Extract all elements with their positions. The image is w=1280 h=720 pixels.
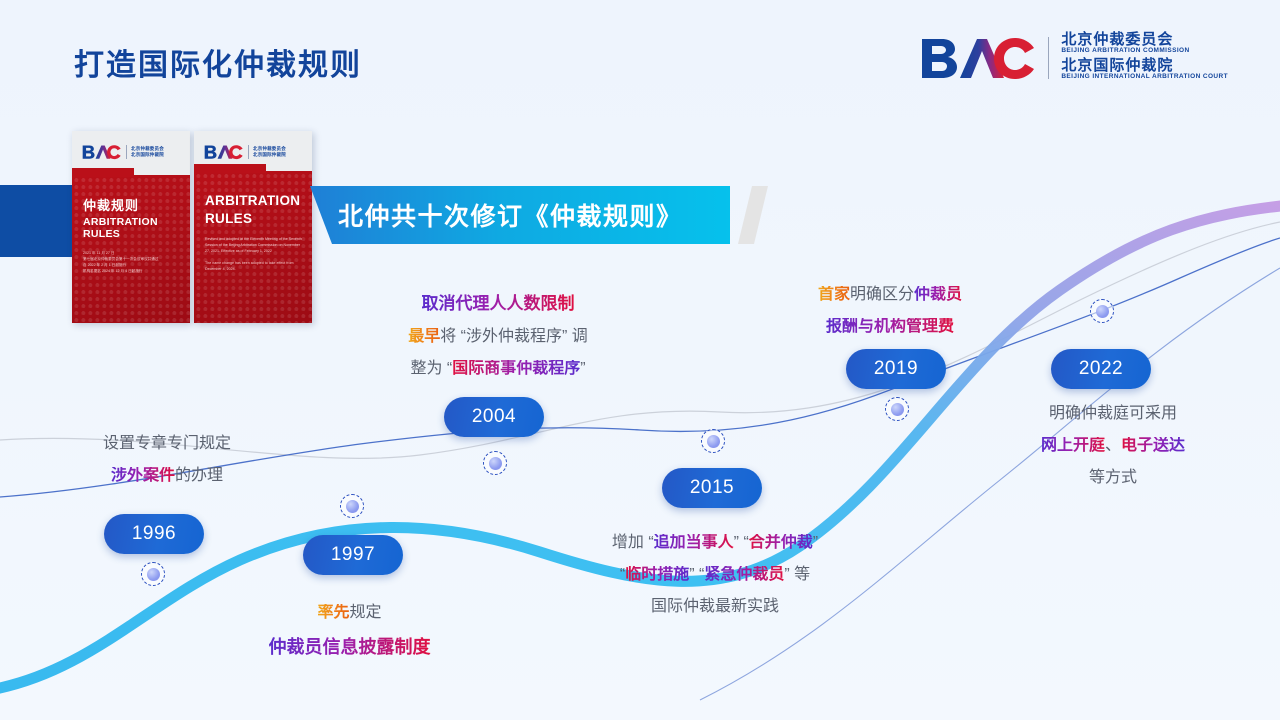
timeline-dot-1 [141, 562, 165, 586]
book-mini-text: 北京仲裁委员会 北京国际仲裁院 [253, 146, 286, 157]
note-2022-line1: 明确仲裁庭可采用 [1008, 398, 1218, 430]
logo-divider [1048, 37, 1049, 79]
note-2022-emphasis-1: 网上开庭 [1041, 437, 1105, 454]
note-2019-emphasis-1: 首家 [818, 286, 850, 303]
note-1997-emphasis-1: 率先 [317, 604, 349, 621]
timeline-dot-3 [483, 451, 507, 475]
note-1997-line2: 仲裁员信息披露制度 [252, 629, 447, 665]
book-cover-text: ARBITRATION RULES Revised and adopted at… [205, 191, 304, 273]
note-2022: 明确仲裁庭可采用 网上开庭、电子送达 等方式 [1008, 398, 1218, 494]
note-2004-emphasis-3: 国际商事仲裁程序 [452, 360, 580, 377]
book-mini-logo-mark [82, 144, 122, 160]
note-2022-line2-mid: 、 [1105, 437, 1121, 454]
book-cover-body: 仲裁规则 ARBITRATION RULES 2021 年 11 月 27 日 … [72, 175, 190, 323]
note-2022-line3: 等方式 [1008, 462, 1218, 494]
logo-line2-en: BEIJING INTERNATIONAL ARBITRATION COURT [1061, 74, 1228, 81]
bac-logo-mark [920, 35, 1038, 81]
year-pill-1997[interactable]: 1997 [303, 535, 403, 575]
book-meta-line4: 机构名更名 2024 年 12 月 4 日起施行 [83, 268, 182, 274]
book-cover-text: 仲裁规则 ARBITRATION RULES 2021 年 11 月 27 日 … [83, 195, 182, 274]
note-2004: 取消代理人人数限制 最早将 “涉外仲裁程序” 调 整为 “国际商事仲裁程序” [378, 287, 618, 385]
book-mini-line2: 北京国际仲裁院 [253, 152, 286, 158]
book-meta: 2021 年 11 月 27 日 第七届北京仲裁委员会第十一次会议审议并通过 自… [83, 250, 182, 274]
book-cover-chinese: 北京仲裁委员会 北京国际仲裁院 仲裁规则 ARBITRATION RULES 2… [72, 131, 190, 323]
note-1997-line1: 率先规定 [252, 597, 447, 629]
note-2015-emphasis-1: 追加当事人 [654, 534, 734, 551]
bac-logo: 北京仲裁委员会 BEIJING ARBITRATION COMMISSION 北… [920, 30, 1228, 86]
book-mini-logo: 北京仲裁委员会 北京国际仲裁院 [82, 144, 164, 160]
note-2004-emphasis-2: 最早 [408, 328, 440, 345]
note-2015-line2-mid: ” “ [689, 566, 704, 583]
book-mini-divider [248, 145, 249, 159]
book-mini-line2: 北京国际仲裁院 [131, 152, 164, 158]
note-2015-line1-post: ” [813, 534, 818, 551]
page-title: 打造国际化仲裁规则 [74, 40, 362, 84]
book-mini-logo: 北京仲裁委员会 北京国际仲裁院 [204, 144, 286, 160]
note-2015: 增加 “追加当事人” “合并仲裁” “临时措施” “紧急仲裁员” 等 国际仲裁最… [560, 527, 870, 623]
timeline-dot-5 [885, 397, 909, 421]
note-2015-emphasis-2: 合并仲裁 [749, 534, 813, 551]
note-1997: 率先规定 仲裁员信息披露制度 [252, 597, 447, 665]
note-1997-line1-rest: 规定 [350, 604, 382, 621]
note-2019-emphasis-3: 报酬与机构管理费 [826, 318, 954, 335]
note-2015-emphasis-4: 紧急仲裁员 [704, 566, 784, 583]
year-pill-1996[interactable]: 1996 [104, 514, 204, 554]
timeline-dot-4 [701, 429, 725, 453]
book-title-en: ARBITRATION RULES [83, 216, 182, 240]
note-2022-emphasis-2: 电子送达 [1121, 437, 1185, 454]
slide-root: 打造国际化仲裁规则 北京仲裁委员会 BEIJING ARBITRATION CO… [0, 0, 1280, 720]
note-1996-line1: 设置专章专门规定 [72, 428, 262, 460]
book-title-en-line2: RULES [205, 211, 304, 227]
section-banner: 北仲共十次修订《仲裁规则》 [310, 186, 730, 244]
note-1996-line2: 涉外案件的办理 [72, 460, 262, 492]
book-mini-logo-mark [204, 144, 244, 160]
note-2015-line2: “临时措施” “紧急仲裁员” 等 [560, 559, 870, 591]
note-2015-line1-pre: 增加 “ [612, 534, 654, 551]
note-2004-line1: 取消代理人人数限制 [378, 287, 618, 321]
section-banner-label: 北仲共十次修订《仲裁规则》 [338, 197, 683, 233]
note-2015-line1: 增加 “追加当事人” “合并仲裁” [560, 527, 870, 559]
logo-line2-cn: 北京国际仲裁院 [1061, 58, 1228, 74]
book-notch [194, 164, 266, 173]
note-2019-line1: 首家明确区分仲裁员 [780, 279, 1000, 311]
book-meta: Revised and adopted at the Eleventh Meet… [205, 236, 304, 273]
book-meta-line2: The name change has been adopted to take… [205, 260, 304, 272]
book-title-cn: 仲裁规则 [83, 195, 182, 214]
year-pill-2015[interactable]: 2015 [662, 468, 762, 508]
year-pill-2022[interactable]: 2022 [1051, 349, 1151, 389]
section-banner-shape: 北仲共十次修订《仲裁规则》 [310, 186, 730, 244]
note-2015-emphasis-3: 临时措施 [625, 566, 689, 583]
logo-text-group: 北京仲裁委员会 BEIJING ARBITRATION COMMISSION 北… [1061, 32, 1228, 83]
note-2019-line2: 报酬与机构管理费 [780, 311, 1000, 343]
year-pill-2004[interactable]: 2004 [444, 397, 544, 437]
note-2015-line3: 国际仲裁最新实践 [560, 591, 870, 623]
book-mini-divider [126, 145, 127, 159]
book-cover-english: 北京仲裁委员会 北京国际仲裁院 ARBITRATION RULES Revise… [194, 131, 312, 323]
book-mini-text: 北京仲裁委员会 北京国际仲裁院 [131, 146, 164, 157]
note-1996-line2-rest: 的办理 [175, 467, 223, 484]
note-2015-line2-post: ” 等 [784, 566, 810, 583]
note-2004-line2-rest: 将 “涉外仲裁程序” 调 [440, 328, 588, 345]
note-2004-line2: 最早将 “涉外仲裁程序” 调 [378, 321, 618, 353]
year-pill-2019[interactable]: 2019 [846, 349, 946, 389]
book-title-en-line1: ARBITRATION [205, 193, 304, 209]
note-1996-emphasis: 涉外案件 [111, 467, 175, 484]
note-2004-line3-pre: 整为 “ [410, 360, 452, 377]
book-cover-body: ARBITRATION RULES Revised and adopted at… [194, 171, 312, 323]
note-2004-line3: 整为 “国际商事仲裁程序” [378, 353, 618, 385]
note-2019: 首家明确区分仲裁员 报酬与机构管理费 [780, 279, 1000, 343]
book-meta-line1: Revised and adopted at the Eleventh Meet… [205, 236, 304, 254]
note-1996: 设置专章专门规定 涉外案件的办理 [72, 428, 262, 492]
logo-line1-en: BEIJING ARBITRATION COMMISSION [1061, 48, 1228, 55]
note-2022-line2: 网上开庭、电子送达 [1008, 430, 1218, 462]
logo-line1-cn: 北京仲裁委员会 [1061, 32, 1228, 48]
note-2015-line1-mid: ” “ [734, 534, 749, 551]
note-2019-emphasis-2: 仲裁员 [914, 286, 962, 303]
note-1997-emphasis-2: 仲裁员信息披露制度 [269, 637, 431, 657]
timeline-dot-2 [340, 494, 364, 518]
book-notch [72, 168, 134, 177]
timeline-dot-6 [1090, 299, 1114, 323]
note-2004-line3-post: ” [580, 360, 585, 377]
section-banner-accent [738, 186, 768, 244]
note-2019-line1-mid: 明确区分 [850, 286, 914, 303]
note-2004-emphasis-1: 取消代理人人数限制 [422, 294, 575, 313]
